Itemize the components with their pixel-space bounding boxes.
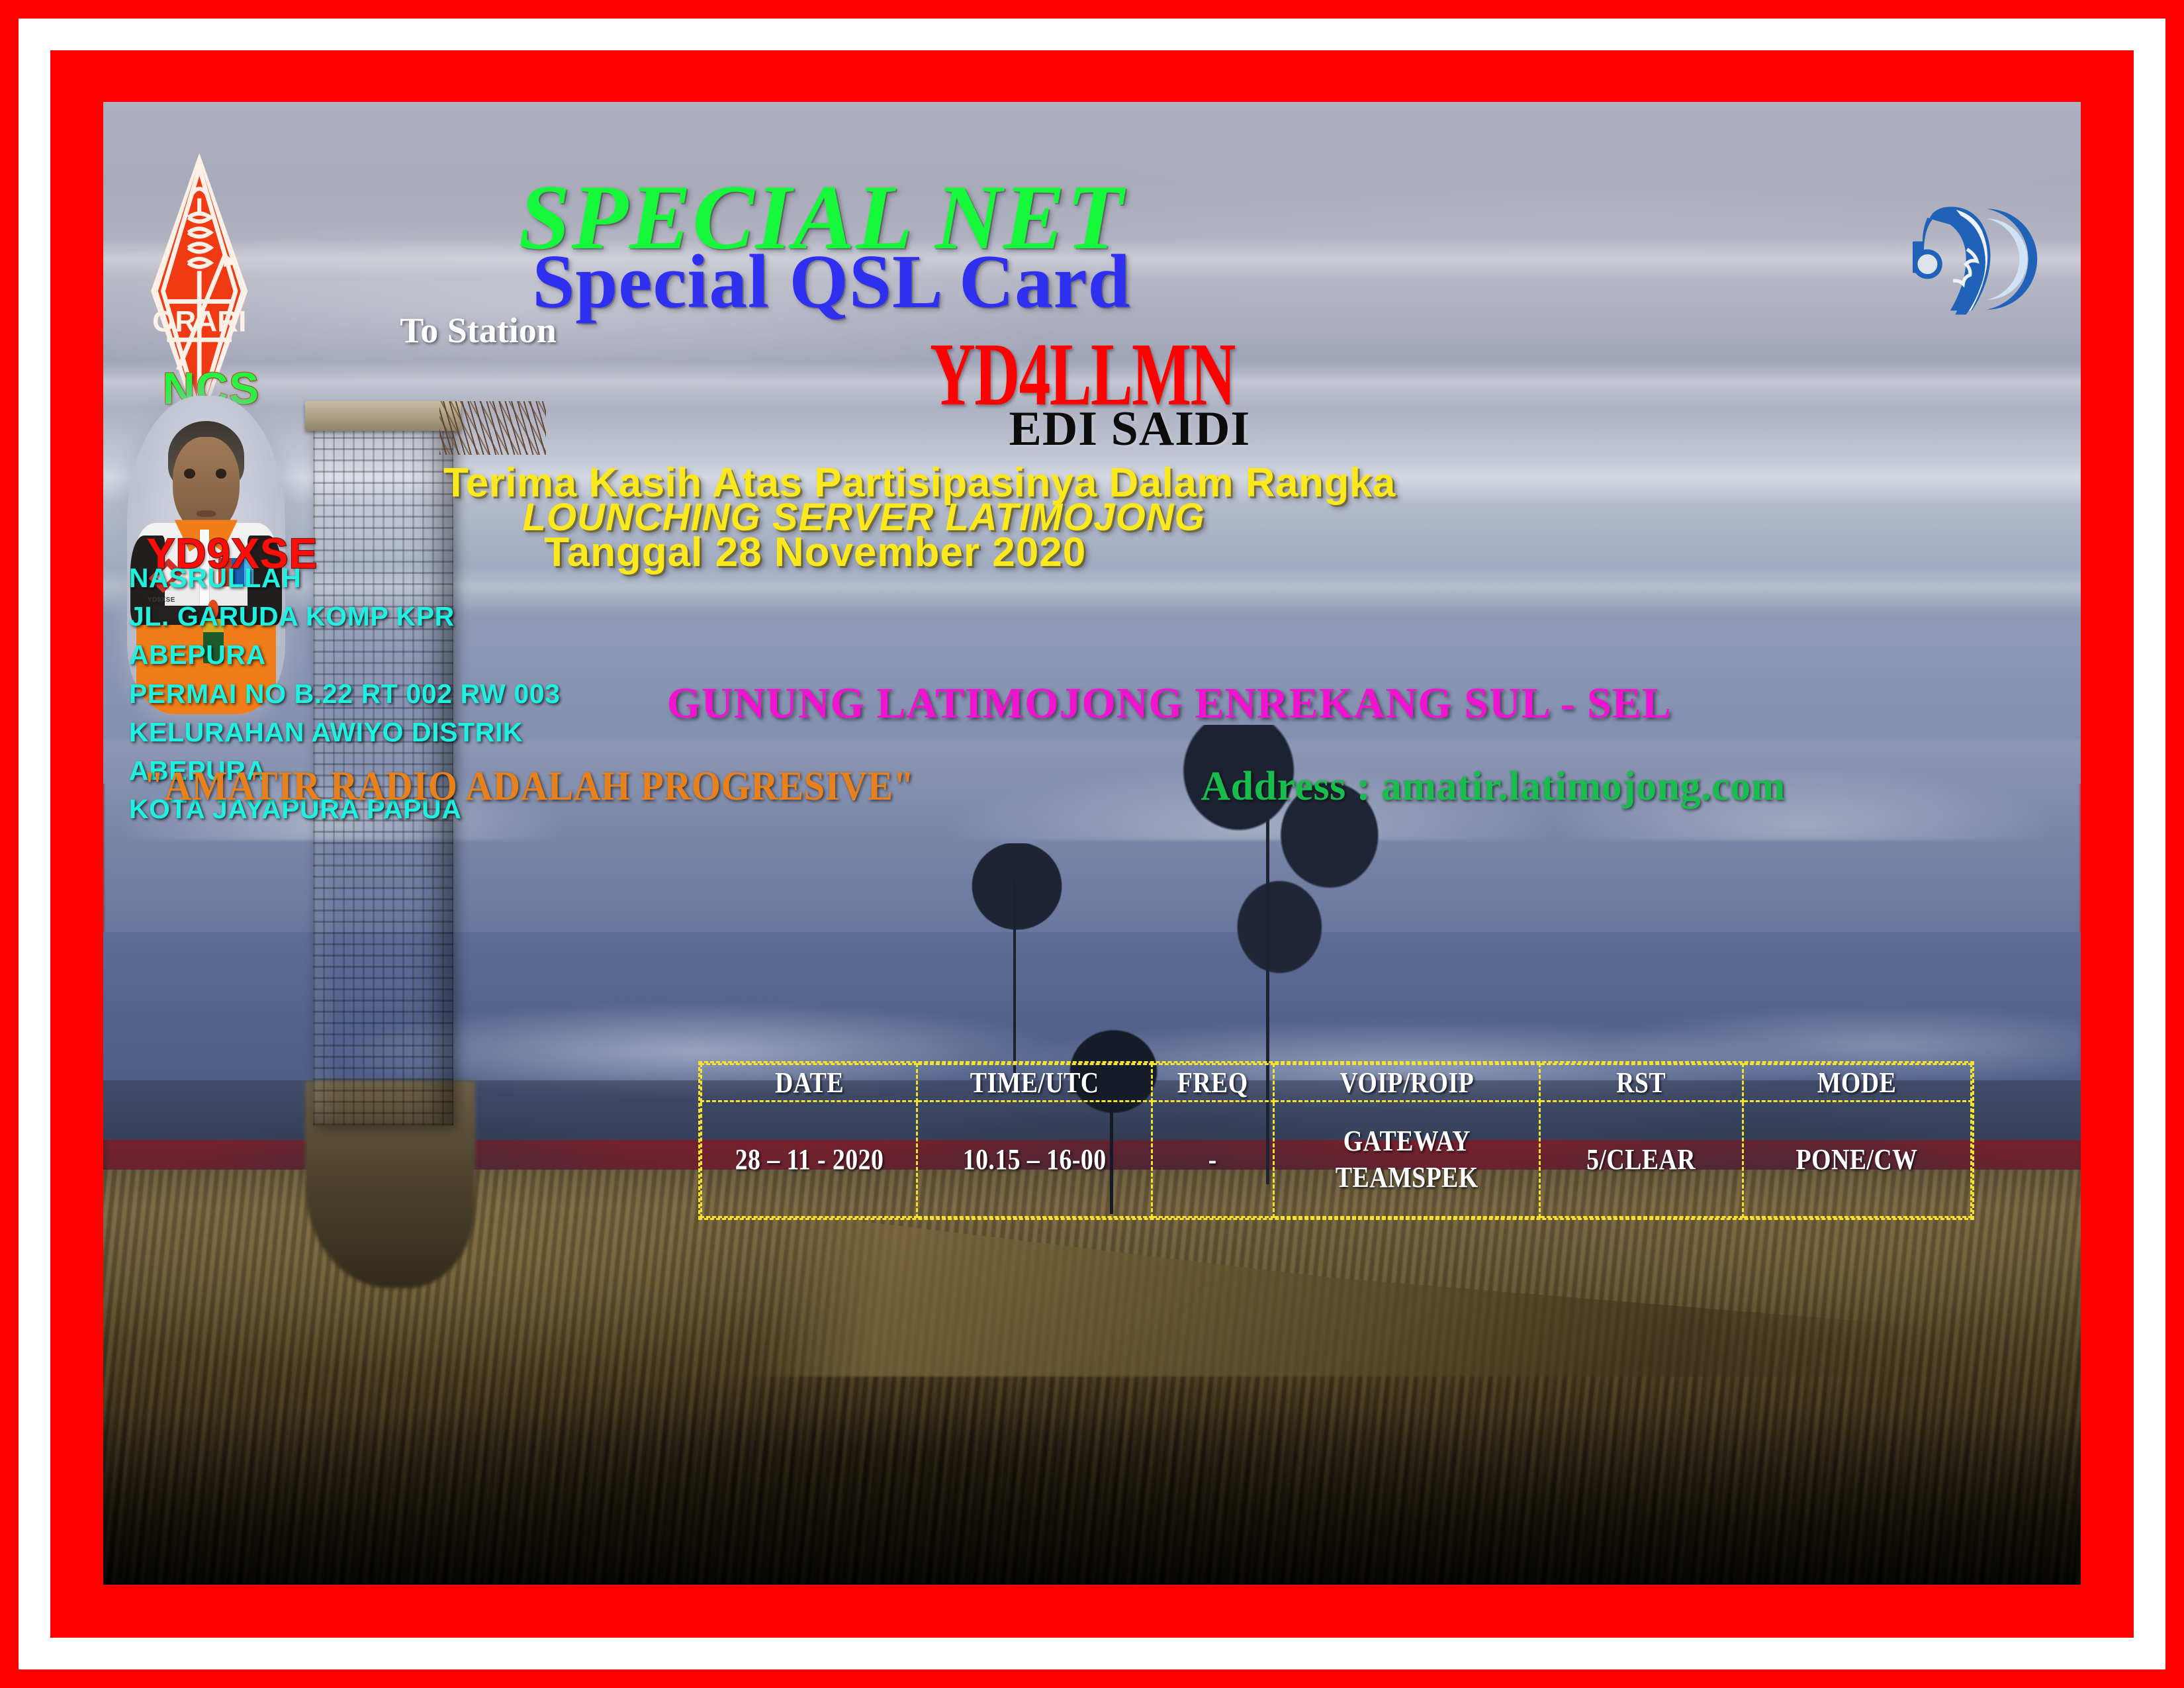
location-line: GUNUNG LATIMOJONG ENREKANG SUL - SEL <box>667 679 1672 729</box>
cell-time-utc: 10.15 – 16-00 <box>934 1102 1136 1217</box>
svg-text:ORARI: ORARI <box>152 306 246 338</box>
to-station-label: To Station <box>400 310 557 351</box>
slogan-text: "AMATIR RADIO ADALAH PROGRESIVE" <box>143 763 915 810</box>
portrait-face <box>173 437 239 532</box>
cell-rst: 5/CLEAR <box>1554 1102 1729 1217</box>
cell-date: 28 – 11 - 2020 <box>717 1102 902 1217</box>
table-header-voip-roip: VOIP/ROIP <box>1293 1064 1521 1102</box>
cairn-cap <box>305 401 461 431</box>
bottom-vignette <box>103 1407 2081 1585</box>
address-line: JL. GARUDA KOMP KPR <box>129 597 561 635</box>
operator-name: EDI SAIDI <box>1009 401 1251 457</box>
card-photo-area: ORARI <box>103 102 2081 1585</box>
table-header-mode: MODE <box>1758 1064 1955 1102</box>
address-line: PERMAI NO B.22 RT 002 RW 003 <box>129 675 561 713</box>
table-header-date: DATE <box>717 1064 902 1102</box>
address-line: ABEPURA <box>129 635 561 674</box>
table-header-time-utc: TIME/UTC <box>934 1064 1136 1102</box>
cell-voip-line-2: TEAMSPEK <box>1294 1159 1520 1196</box>
address-line: KELURAHAN AWIYO DISTRIK <box>129 713 561 751</box>
cell-mode: PONE/CW <box>1758 1102 1955 1217</box>
footer-web-address: Address : amatir.latimojong.com <box>1201 763 1785 810</box>
cell-freq: - <box>1160 1102 1265 1217</box>
cell-voip-roip: GATEWAY TEAMSPEK <box>1293 1102 1521 1217</box>
qso-log-table: DATE TIME/UTC FREQ VOIP/ROIP RST MODE 28… <box>698 1061 1974 1220</box>
card-white-gap: ORARI <box>19 19 2165 1669</box>
cell-voip-line-1: GATEWAY <box>1294 1123 1520 1159</box>
card-title-special-qsl-card: Special QSL Card <box>532 238 1130 326</box>
portrait-mouth <box>197 510 216 517</box>
headset-profile-icon <box>1913 136 2041 381</box>
cairn-grass-tuft <box>439 401 546 455</box>
table-header-row: DATE TIME/UTC FREQ VOIP/ROIP RST MODE <box>702 1064 1971 1102</box>
card-inner-red-border: ORARI <box>50 50 2134 1638</box>
table-header-freq: FREQ <box>1160 1064 1265 1102</box>
thanks-line-3-date: Tanggal 28 November 2020 <box>544 529 1086 576</box>
portrait-eye-left <box>184 469 195 478</box>
portrait-eye-right <box>216 469 227 478</box>
table-header-rst: RST <box>1554 1064 1729 1102</box>
address-line: NASRULLAH <box>129 559 561 597</box>
table-row: 28 – 11 - 2020 10.15 – 16-00 - GATEWAY T… <box>702 1102 1971 1217</box>
qsl-card: ORARI <box>0 0 2184 1688</box>
